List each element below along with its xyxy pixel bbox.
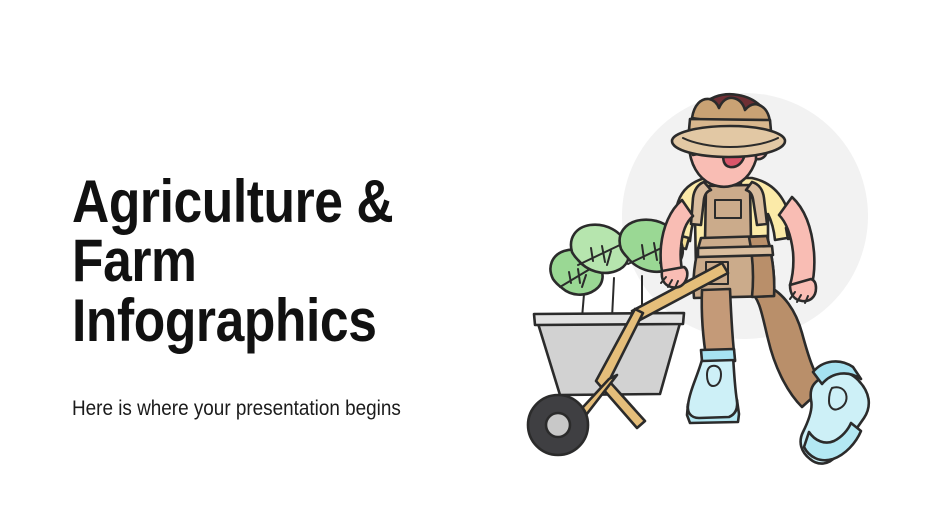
wheelbarrow-tray-lip bbox=[534, 313, 684, 325]
wheelbarrow-wheel-hub bbox=[546, 413, 570, 437]
overalls-bib bbox=[705, 185, 751, 242]
page-title: Agriculture & Farm Infographics bbox=[72, 172, 476, 350]
leaf-stem-2 bbox=[612, 278, 614, 318]
presentation-slide: Agriculture & Farm Infographics Here is … bbox=[0, 0, 937, 527]
slide-subtitle: Here is where your presentation begins bbox=[72, 350, 495, 421]
front-boot-body bbox=[688, 355, 737, 419]
farmer-wheelbarrow-svg: .ol { stroke:#2b2b2b; stroke-width:2.6; … bbox=[520, 70, 920, 470]
overalls-waistband bbox=[698, 246, 773, 257]
farmer-illustration: .ol { stroke:#2b2b2b; stroke-width:2.6; … bbox=[520, 70, 920, 470]
front-boot bbox=[687, 349, 739, 423]
front-boot-cuff bbox=[701, 349, 735, 361]
title-text-block: Agriculture & Farm Infographics Here is … bbox=[72, 172, 542, 421]
